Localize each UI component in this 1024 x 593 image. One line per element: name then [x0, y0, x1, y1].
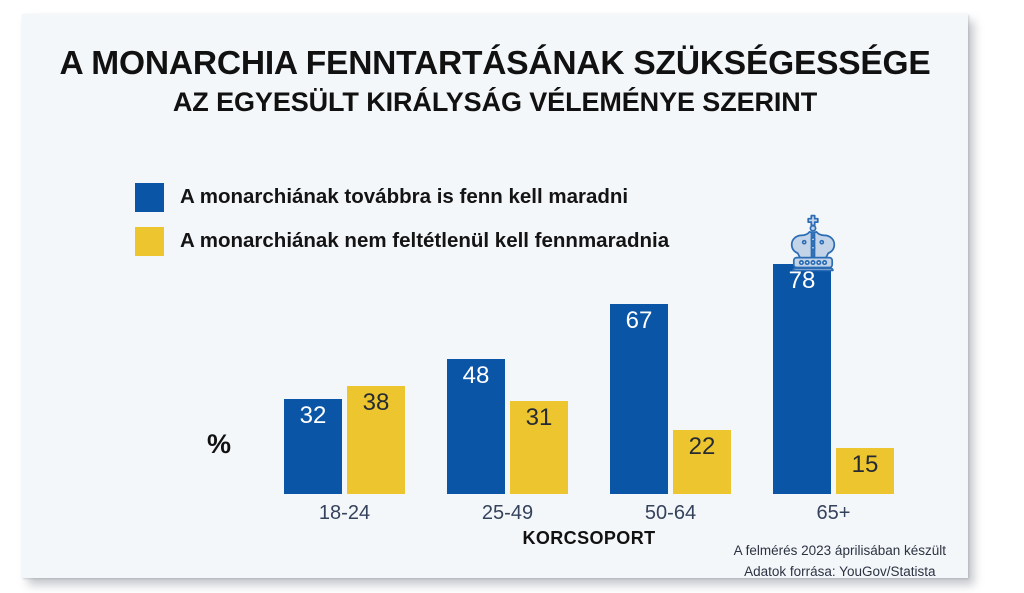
x-axis-title-text: KORCSOPORT: [522, 528, 655, 549]
category-tick-label: 50-64: [604, 502, 737, 525]
bar-50-64-keep[interactable]: 67: [610, 304, 668, 494]
screenshot-stage: A MONARCHIA FENNTARTÁSÁNAK SZÜKSÉGESSÉGE…: [0, 0, 1024, 593]
infographic-card: A MONARCHIA FENNTARTÁSÁNAK SZÜKSÉGESSÉGE…: [22, 14, 968, 578]
bar-value-label: 48: [447, 364, 505, 388]
bar-25-49-abolish[interactable]: 31: [510, 401, 568, 494]
category-tick-label: 25-49: [441, 502, 574, 525]
bar-value-label: 32: [284, 404, 342, 428]
bar-value-label: 15: [836, 453, 894, 477]
survey-date-text: A felmérés 2023 áprilisában készült: [734, 541, 946, 562]
bar-65-plus-abolish[interactable]: 15: [836, 448, 894, 494]
bar-65-plus-keep[interactable]: 78: [773, 264, 831, 494]
bar-18-24-abolish[interactable]: 38: [347, 386, 405, 494]
bar-value-label: 67: [610, 309, 668, 333]
bar-50-64-abolish[interactable]: 22: [673, 430, 731, 494]
bar-25-49-keep[interactable]: 48: [447, 359, 505, 494]
bar-chart-plot-area: 32 38 18-24 48 31 25-49 67: [22, 14, 968, 578]
bar-18-24-keep[interactable]: 32: [284, 399, 342, 494]
category-tick-label: 65+: [767, 502, 900, 525]
source-footnote: A felmérés 2023 áprilisában készült Adat…: [734, 541, 946, 583]
data-source-text: Adatok forrása: YouGov/Statista: [734, 562, 946, 583]
bar-value-label: 22: [673, 435, 731, 459]
bar-value-label: 31: [510, 406, 568, 430]
category-tick-label: 18-24: [278, 502, 411, 525]
bar-value-label: 38: [347, 391, 405, 415]
percent-unit-marker: %: [194, 429, 244, 460]
crown-icon: [784, 212, 842, 274]
